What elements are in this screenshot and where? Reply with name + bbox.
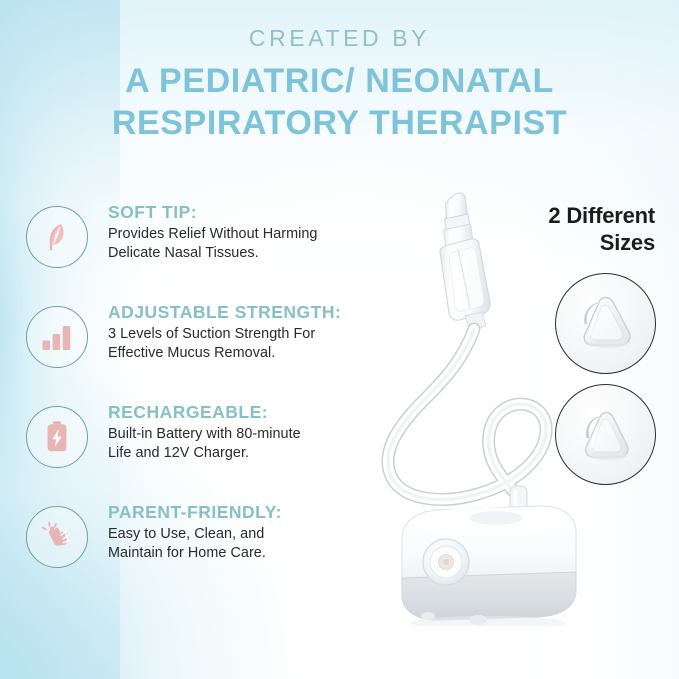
feature-desc-line-2: Effective Mucus Removal. [108,344,374,363]
feature-desc-line-1: Provides Relief Without Harming [108,225,374,244]
headline-line-2: RESPIRATORY THERAPIST [0,102,679,144]
feature-desc-line-2: Life and 12V Charger. [108,444,374,463]
feature-title: ADJUSTABLE STRENGTH: [108,302,374,322]
hand-tap-icon [26,506,88,568]
headline-line-1: A PEDIATRIC/ NEONATAL [0,60,679,102]
feature-item-parent-friendly: PARENT-FRIENDLY: Easy to Use, Clean, and… [24,502,374,586]
feature-desc-line-2: Delicate Nasal Tissues. [108,244,374,263]
nozzle-tip-small [555,384,656,485]
feature-title: SOFT TIP: [108,202,374,222]
base-unit [402,506,576,626]
feature-item-adjustable-strength: ADJUSTABLE STRENGTH: 3 Levels of Suction… [24,302,374,386]
feature-list: SOFT TIP: Provides Relief Without Harmin… [24,202,374,586]
signal-bars-icon [26,306,88,368]
infographic-canvas: CREATED BY A PEDIATRIC/ NEONATAL RESPIRA… [0,0,679,679]
header-block: CREATED BY A PEDIATRIC/ NEONATAL RESPIRA… [0,26,679,145]
feature-item-soft-tip: SOFT TIP: Provides Relief Without Harmin… [24,202,374,286]
nozzle-tip-large [555,273,656,374]
feature-desc-line-2: Maintain for Home Care. [108,544,374,563]
feature-title: PARENT-FRIENDLY: [108,502,374,522]
feather-icon [26,206,88,268]
silicone-tube [388,329,546,499]
feature-desc-line-1: 3 Levels of Suction Strength For [108,325,374,344]
feature-description: Provides Relief Without Harming Delicate… [108,225,374,263]
sizes-title-line-2: Sizes [465,230,655,257]
battery-charging-icon [26,406,88,468]
feature-description: 3 Levels of Suction Strength For Effecti… [108,325,374,363]
feature-desc-line-1: Built-in Battery with 80-minute [108,425,374,444]
feature-description: Built-in Battery with 80-minute Life and… [108,425,374,463]
feature-description: Easy to Use, Clean, and Maintain for Hom… [108,525,374,563]
kicker-text: CREATED BY [0,26,679,51]
feature-item-rechargeable: RECHARGEABLE: Built-in Battery with 80-m… [24,402,374,486]
sizes-title-line-1: 2 Different [465,203,655,230]
sizes-callout-title: 2 Different Sizes [465,203,655,257]
control-dial [423,539,469,585]
feature-desc-line-1: Easy to Use, Clean, and [108,525,374,544]
page-title: A PEDIATRIC/ NEONATAL RESPIRATORY THERAP… [0,60,679,144]
feature-title: RECHARGEABLE: [108,402,374,422]
